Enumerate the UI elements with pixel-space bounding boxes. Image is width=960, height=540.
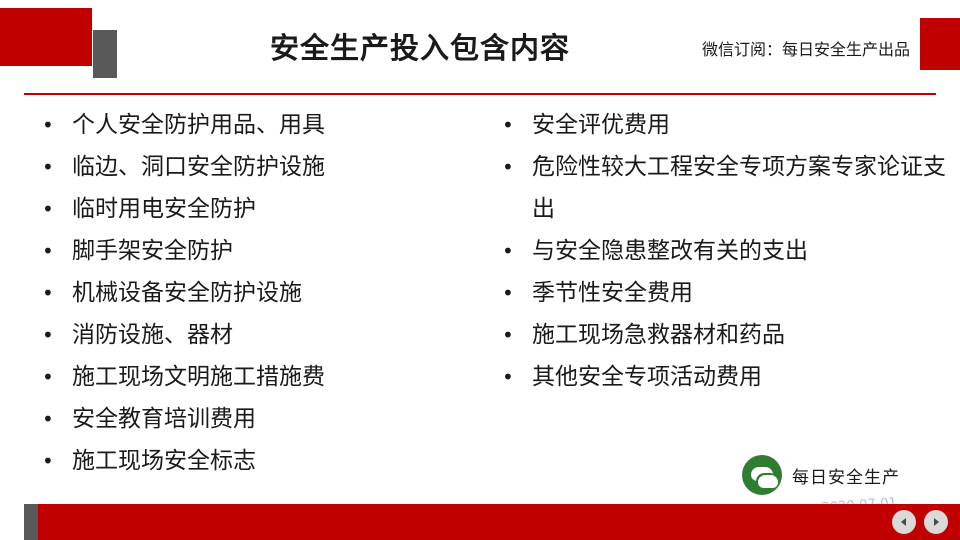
bottom-red-bar: [0, 504, 960, 540]
bottom-white-notch: [0, 504, 24, 540]
list-item: 施工现场急救器材和药品: [494, 314, 960, 356]
list-item: 个人安全防护用品、用具: [34, 104, 460, 146]
title-divider: [24, 93, 936, 95]
watermark-card: 每日安全生产: [732, 444, 952, 506]
slide-canvas: 安全生产投入包含内容 微信订阅：每日安全生产出品 个人安全防护用品、用具 临边、…: [0, 0, 960, 540]
wechat-logo-icon: [742, 455, 782, 495]
slide-navigation[interactable]: [892, 510, 948, 534]
list-item: 危险性较大工程安全专项方案专家论证支出: [494, 146, 960, 230]
list-item: 临时用电安全防护: [34, 188, 460, 230]
left-column: 个人安全防护用品、用具 临边、洞口安全防护设施 临时用电安全防护 脚手架安全防护…: [0, 104, 460, 504]
prev-slide-icon[interactable]: [892, 510, 916, 534]
list-item: 其他安全专项活动费用: [494, 356, 960, 398]
bottom-grey-block: [24, 504, 38, 540]
list-item: 机械设备安全防护设施: [34, 272, 460, 314]
top-left-grey-block: [93, 30, 117, 78]
list-item: 临边、洞口安全防护设施: [34, 146, 460, 188]
list-item: 施工现场安全标志: [34, 440, 460, 482]
right-bullet-list: 安全评优费用 危险性较大工程安全专项方案专家论证支出 与安全隐患整改有关的支出 …: [494, 104, 960, 398]
next-slide-icon[interactable]: [924, 510, 948, 534]
list-item: 消防设施、器材: [34, 314, 460, 356]
list-item: 与安全隐患整改有关的支出: [494, 230, 960, 272]
left-bullet-list: 个人安全防护用品、用具 临边、洞口安全防护设施 临时用电安全防护 脚手架安全防护…: [34, 104, 460, 482]
list-item: 安全教育培训费用: [34, 398, 460, 440]
subscribe-note: 微信订阅：每日安全生产出品: [702, 36, 910, 60]
page-title: 安全生产投入包含内容: [160, 28, 680, 68]
list-item: 施工现场文明施工措施费: [34, 356, 460, 398]
list-item: 季节性安全费用: [494, 272, 960, 314]
top-left-red-block: [0, 8, 92, 66]
list-item: 脚手架安全防护: [34, 230, 460, 272]
list-item: 安全评优费用: [494, 104, 960, 146]
watermark-account-name: 每日安全生产: [792, 463, 900, 488]
top-right-red-block: [920, 18, 960, 70]
